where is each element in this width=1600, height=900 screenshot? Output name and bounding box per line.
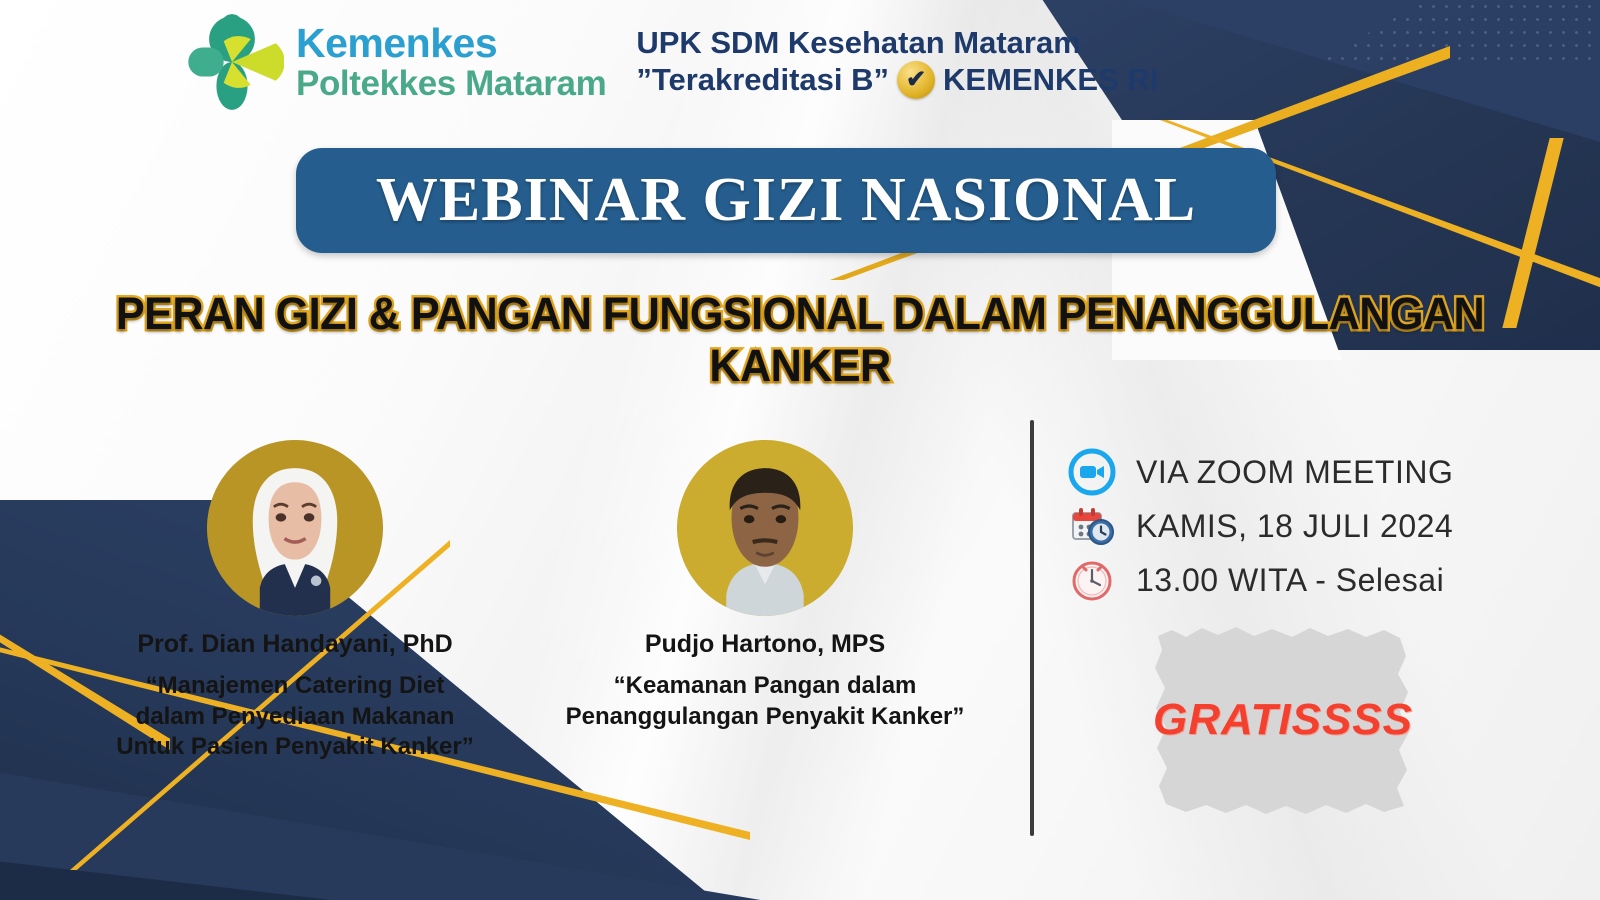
event-info-list: VIA ZOOM MEETING KAMIS, 18 JUL [1068, 448, 1453, 604]
vertical-divider [1030, 420, 1034, 836]
video-camera-icon [1068, 448, 1116, 496]
bottom-left-navy-dark [0, 780, 590, 900]
speaker-photo-man [677, 440, 853, 616]
title-banner: WEBINAR GIZI NASIONAL [296, 148, 1276, 253]
speaker-topic: “Manajemen Catering Diet dalam Penyediaa… [85, 671, 505, 763]
speaker-name: Pudjo Hartono, MPS [555, 630, 975, 659]
speaker-topic-line: “Manajemen Catering Diet [85, 671, 505, 702]
webinar-poster: Kemenkes Poltekkes Mataram UPK SDM Keseh… [0, 0, 1600, 900]
event-info-text: 13.00 WITA - Selesai [1136, 562, 1444, 599]
event-info-row: KAMIS, 18 JULI 2024 [1068, 502, 1453, 550]
speaker-topic-line: Penanggulangan Penyakit Kanker” [555, 702, 975, 733]
speaker-name: Prof. Dian Handayani, PhD [85, 630, 505, 659]
accreditation-ministry: KEMENKES RI [943, 62, 1158, 97]
kemenkes-logo-text: Kemenkes Poltekkes Mataram [296, 22, 606, 103]
top-right-dot-pattern [1180, 0, 1600, 70]
gold-check-badge-icon: ✔ [897, 61, 935, 99]
kemenkes-logo: Kemenkes Poltekkes Mataram [180, 10, 606, 114]
speaker-card: Prof. Dian Handayani, PhD “Manajemen Cat… [85, 440, 505, 763]
event-info-row: VIA ZOOM MEETING [1068, 448, 1453, 496]
event-info-text: KAMIS, 18 JULI 2024 [1136, 508, 1453, 545]
price-badge-label: GRATISSSS [1153, 695, 1413, 745]
speaker-topic-line: Untuk Pasien Penyakit Kanker” [85, 732, 505, 763]
speaker-photo-woman-hijab [207, 440, 383, 616]
speaker-card: Pudjo Hartono, MPS “Keamanan Pangan dala… [555, 440, 975, 763]
accreditation-line-1: UPK SDM Kesehatan Mataram [636, 25, 1158, 60]
accreditation-block: UPK SDM Kesehatan Mataram ”Terakreditasi… [636, 25, 1158, 98]
subtitle-text: PERAN GIZI & PANGAN FUNGSIONAL DALAM PEN… [32, 288, 1568, 392]
speaker-topic-line: “Keamanan Pangan dalam [555, 671, 975, 702]
poster-header: Kemenkes Poltekkes Mataram UPK SDM Keseh… [180, 10, 1158, 114]
accreditation-quote: ”Terakreditasi B” [636, 62, 889, 97]
event-info-row: 13.00 WITA - Selesai [1068, 556, 1453, 604]
accreditation-line-2: ”Terakreditasi B” ✔ KEMENKES RI [636, 61, 1158, 99]
calendar-clock-icon [1068, 502, 1116, 550]
clock-icon [1068, 556, 1116, 604]
kemenkes-clover-logo-icon [180, 10, 284, 114]
speakers-section: Prof. Dian Handayani, PhD “Manajemen Cat… [60, 440, 1000, 763]
logo-line-1: Kemenkes [296, 22, 606, 65]
subtitle-bar: PERAN GIZI & PANGAN FUNGSIONAL DALAM PEN… [0, 288, 1600, 392]
speaker-topic: “Keamanan Pangan dalam Penanggulangan Pe… [555, 671, 975, 732]
event-info-text: VIA ZOOM MEETING [1136, 454, 1453, 491]
page-title: WEBINAR GIZI NASIONAL [376, 165, 1196, 236]
speaker-topic-line: dalam Penyediaan Makanan [85, 702, 505, 733]
price-badge: GRATISSSS [1152, 622, 1414, 818]
logo-line-2: Poltekkes Mataram [296, 65, 606, 102]
